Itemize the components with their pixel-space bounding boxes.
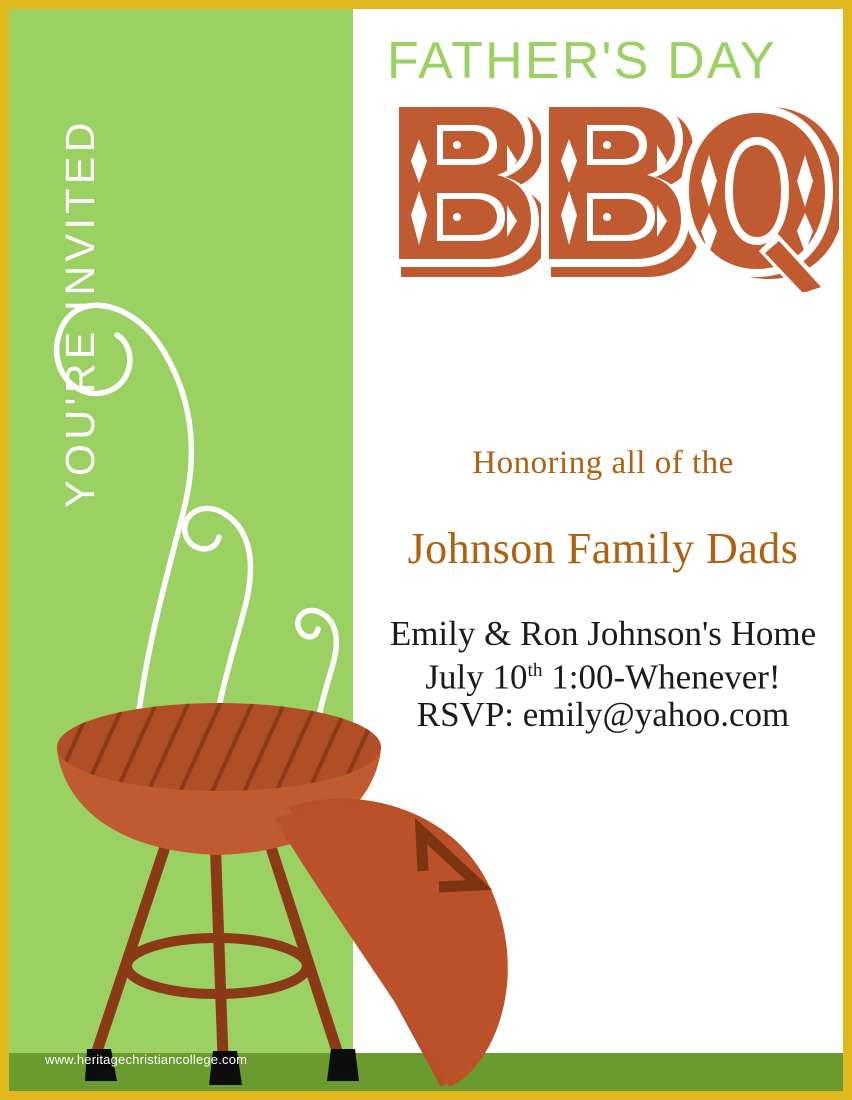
detail-rsvp: RSVP: emily@yahoo.com — [353, 696, 843, 733]
honoring-line: Honoring all of the — [353, 445, 843, 482]
detail-date-prefix: July 10 — [425, 658, 527, 697]
youre-invited-vertical-text: YOU'RE INVITED — [50, 53, 110, 573]
detail-location: Emily & Ron Johnson's Home — [353, 615, 843, 652]
flyer-inner: YOU'RE INVITED FATHER'S DAY — [9, 9, 843, 1091]
detail-datetime: July 10th 1:00-Whenever! — [353, 652, 843, 696]
bbq-wordmark — [379, 87, 839, 292]
family-name-line: Johnson Family Dads — [353, 523, 843, 574]
detail-time: 1:00-Whenever! — [543, 658, 781, 697]
event-details: Emily & Ron Johnson's Home July 10th 1:0… — [353, 615, 843, 733]
flyer-canvas: YOU'RE INVITED FATHER'S DAY — [0, 0, 852, 1100]
detail-date-suffix: th — [528, 660, 543, 681]
fathers-day-eyebrow: FATHER'S DAY — [387, 31, 827, 91]
watermark-url: www.heritagechristiancollege.com — [45, 1052, 247, 1067]
